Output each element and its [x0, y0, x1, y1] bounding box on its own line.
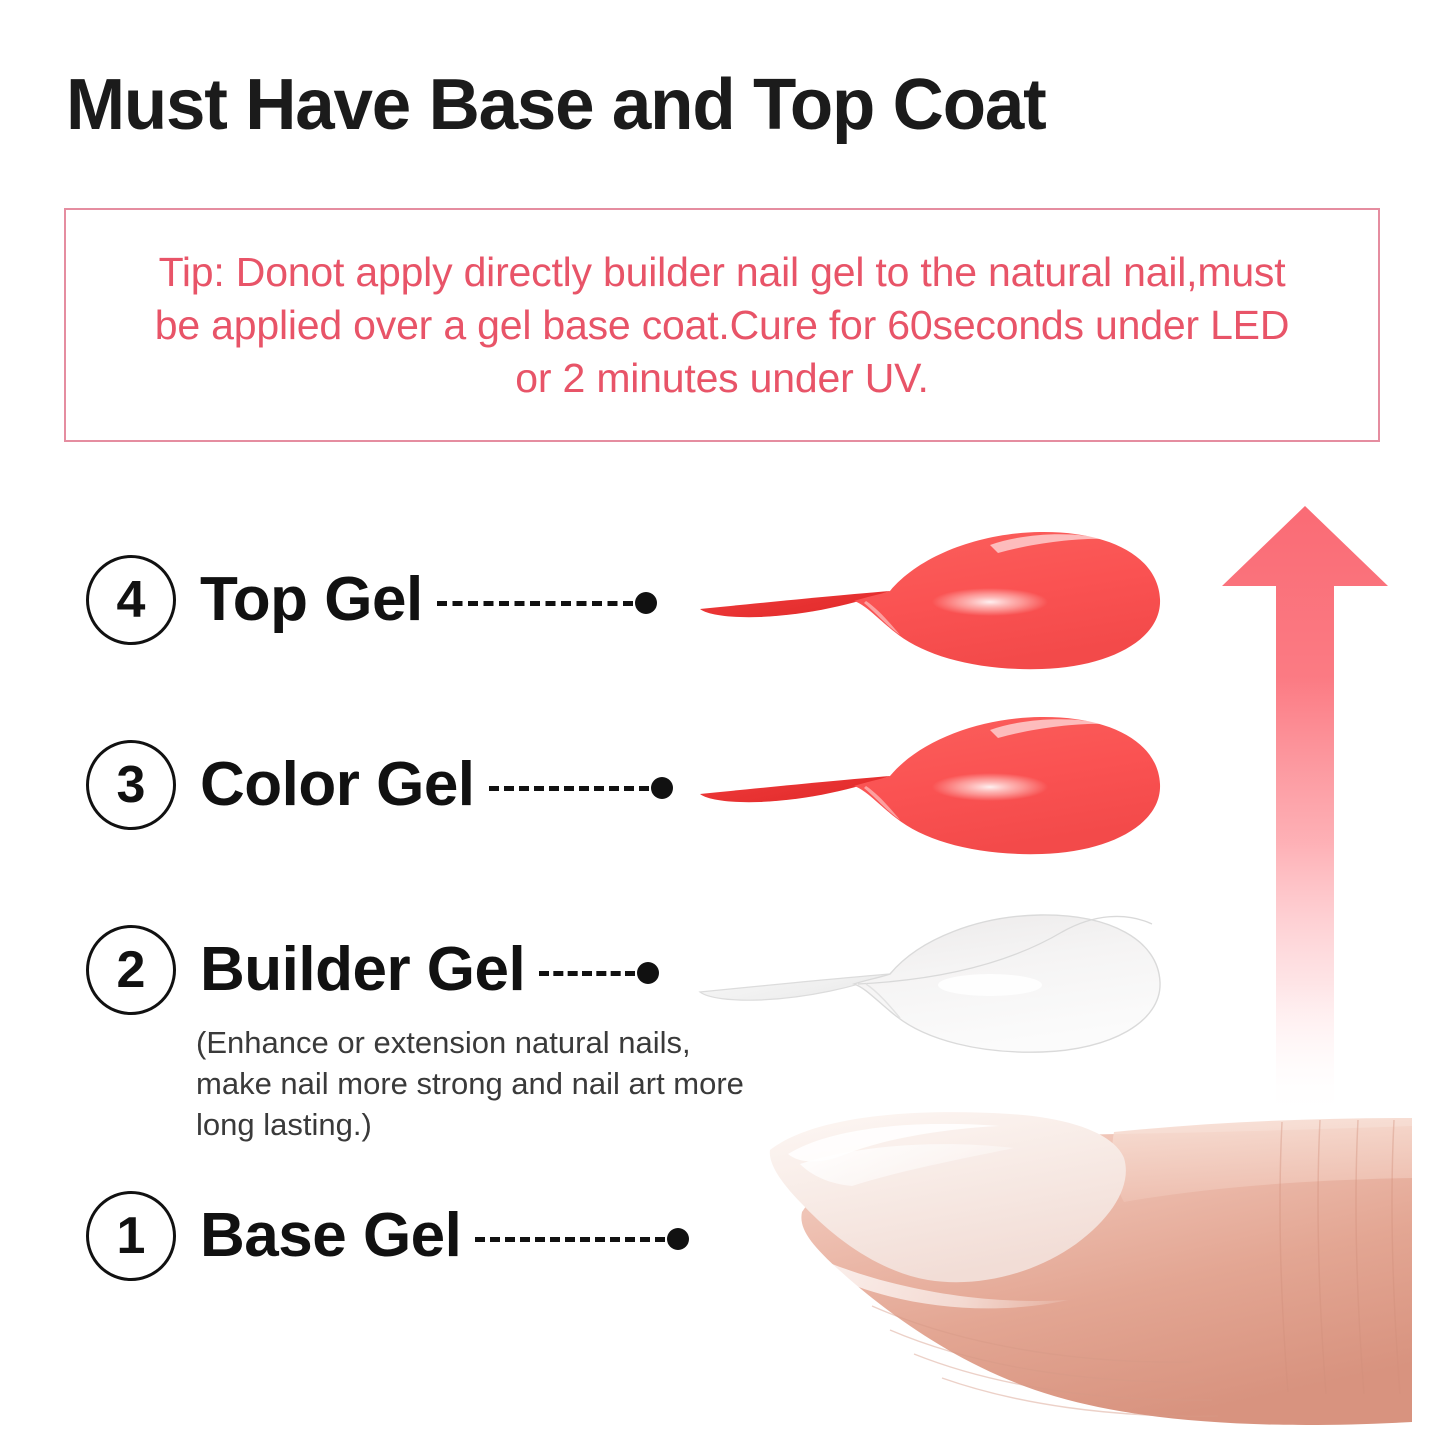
step-row-top-gel: 4 Top Gel — [86, 552, 657, 648]
infographic-root: Must Have Base and Top Coat Tip: Donot a… — [0, 0, 1445, 1445]
leader-dash — [489, 786, 649, 791]
leader-dot — [667, 1228, 689, 1250]
leader-line-color-gel — [489, 777, 673, 799]
leader-line-top-gel — [437, 592, 657, 614]
leader-dot — [635, 592, 657, 614]
builder-gel-note: (Enhance or extension natural nails, mak… — [196, 1022, 756, 1145]
fingertip-photo — [742, 1092, 1412, 1445]
top-gel-drop-icon — [690, 505, 1170, 695]
drop-gloss-oval — [932, 773, 1048, 801]
leader-dash — [539, 971, 635, 976]
leader-line-builder-gel — [539, 962, 659, 984]
step-row-base-gel: 1 Base Gel — [86, 1188, 689, 1284]
page-title: Must Have Base and Top Coat — [66, 62, 1376, 148]
leader-dot — [637, 962, 659, 984]
step-number-badge-4: 4 — [86, 555, 176, 645]
color-gel-drop-icon — [690, 690, 1170, 880]
step-label-builder-gel: Builder Gel — [200, 937, 525, 1003]
step-row-builder-gel: 2 Builder Gel — [86, 922, 659, 1018]
step-label-color-gel: Color Gel — [200, 752, 475, 818]
drop-gloss-oval — [938, 974, 1042, 996]
step-number-badge-1: 1 — [86, 1191, 176, 1281]
leader-line-base-gel — [475, 1228, 689, 1250]
step-number-badge-2: 2 — [86, 925, 176, 1015]
step-row-color-gel: 3 Color Gel — [86, 737, 673, 833]
leader-dot — [651, 777, 673, 799]
tip-text: Tip: Donot apply directly builder nail g… — [132, 246, 1312, 405]
arrow-shape — [1222, 506, 1388, 1118]
step-label-base-gel: Base Gel — [200, 1203, 461, 1269]
step-number-badge-3: 3 — [86, 740, 176, 830]
leader-dash — [437, 601, 633, 606]
step-label-top-gel: Top Gel — [200, 567, 423, 633]
tip-callout-box: Tip: Donot apply directly builder nail g… — [64, 208, 1380, 442]
leader-dash — [475, 1237, 665, 1242]
builder-gel-drop-icon — [690, 888, 1170, 1078]
drop-gloss-oval — [932, 588, 1048, 616]
upward-arrow-icon — [1218, 498, 1393, 1118]
